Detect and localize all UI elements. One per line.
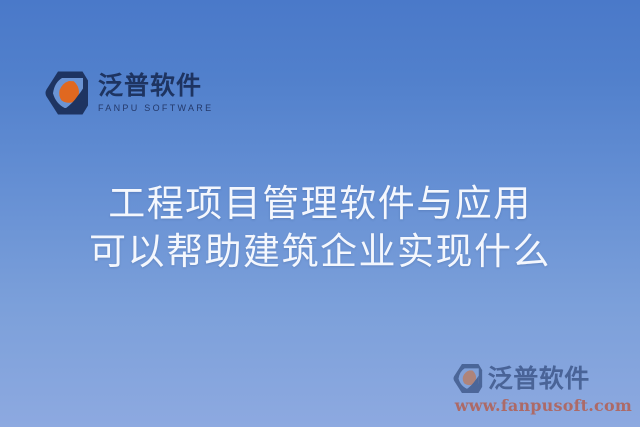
fanpu-hexagon-logo-icon (453, 363, 483, 394)
watermark-brand-cn: 泛普软件 (488, 366, 590, 391)
watermark: 泛普软件 www.fanpusoft.com (453, 363, 632, 415)
watermark-url: www.fanpusoft.com (455, 396, 632, 415)
headline-line-1: 工程项目管理软件与应用 (0, 180, 640, 228)
header-logo-text: 泛普软件 FANPU SOFTWARE (98, 73, 213, 112)
banner-canvas: 泛普软件 FANPU SOFTWARE 工程项目管理软件与应用 可以帮助建筑企业… (0, 0, 640, 427)
brand-name-en: FANPU SOFTWARE (98, 104, 213, 113)
headline-line-2: 可以帮助建筑企业实现什么 (0, 228, 640, 276)
headline-block: 工程项目管理软件与应用 可以帮助建筑企业实现什么 (0, 180, 640, 276)
header-logo[interactable]: 泛普软件 FANPU SOFTWARE (45, 70, 213, 116)
brand-name-cn: 泛普软件 (98, 73, 213, 99)
watermark-brand-row: 泛普软件 (453, 363, 590, 394)
fanpu-hexagon-logo-icon (45, 70, 89, 116)
